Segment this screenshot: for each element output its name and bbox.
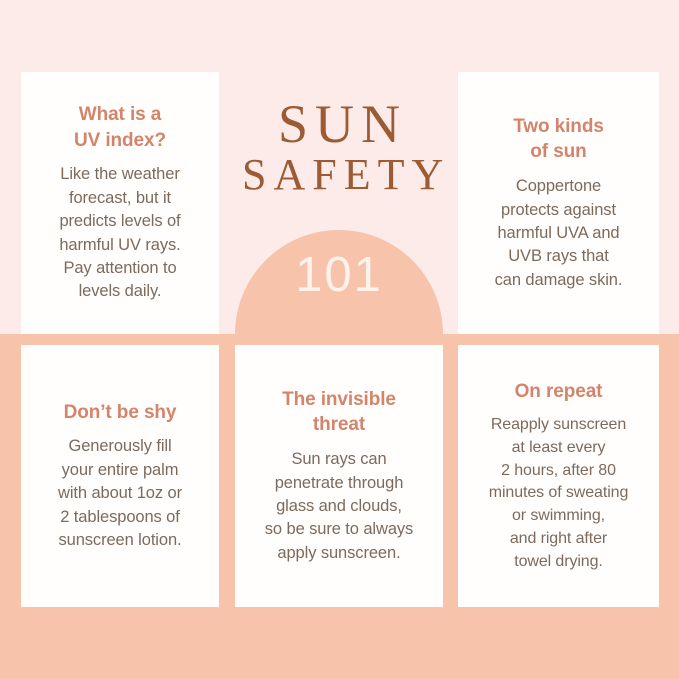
card-heading: On repeat bbox=[515, 379, 603, 405]
title-line-safety: SAFETY bbox=[235, 152, 443, 198]
card-heading: Don’t be shy bbox=[64, 400, 177, 426]
card-two-kinds-of-sun: Two kindsof sun Coppertoneprotects again… bbox=[458, 72, 659, 334]
card-heading: What is aUV index? bbox=[74, 102, 166, 153]
card-heading: Two kindsof sun bbox=[513, 114, 604, 165]
card-uv-index: What is aUV index? Like the weatherforec… bbox=[21, 72, 219, 334]
card-body: Sun rays canpenetrate throughglass and c… bbox=[265, 448, 413, 565]
center-title-block: SUN SAFETY bbox=[235, 96, 443, 198]
sun-safety-infographic: SUN SAFETY 101 What is aUV index? Like t… bbox=[0, 0, 679, 679]
title-number-101: 101 bbox=[235, 247, 443, 303]
card-invisible-threat: The invisiblethreat Sun rays canpenetrat… bbox=[235, 345, 443, 607]
card-body: Coppertoneprotects againstharmful UVA an… bbox=[495, 175, 623, 292]
card-dont-be-shy: Don’t be shy Generously fillyour entire … bbox=[21, 345, 219, 607]
title-line-sun: SUN bbox=[235, 96, 443, 152]
card-on-repeat: On repeat Reapply sunscreenat least ever… bbox=[458, 345, 659, 607]
card-heading: The invisiblethreat bbox=[282, 387, 396, 438]
card-body: Generously fillyour entire palmwith abou… bbox=[58, 435, 182, 552]
card-body: Reapply sunscreenat least every2 hours, … bbox=[489, 414, 629, 573]
card-body: Like the weatherforecast, but itpredicts… bbox=[59, 163, 180, 304]
